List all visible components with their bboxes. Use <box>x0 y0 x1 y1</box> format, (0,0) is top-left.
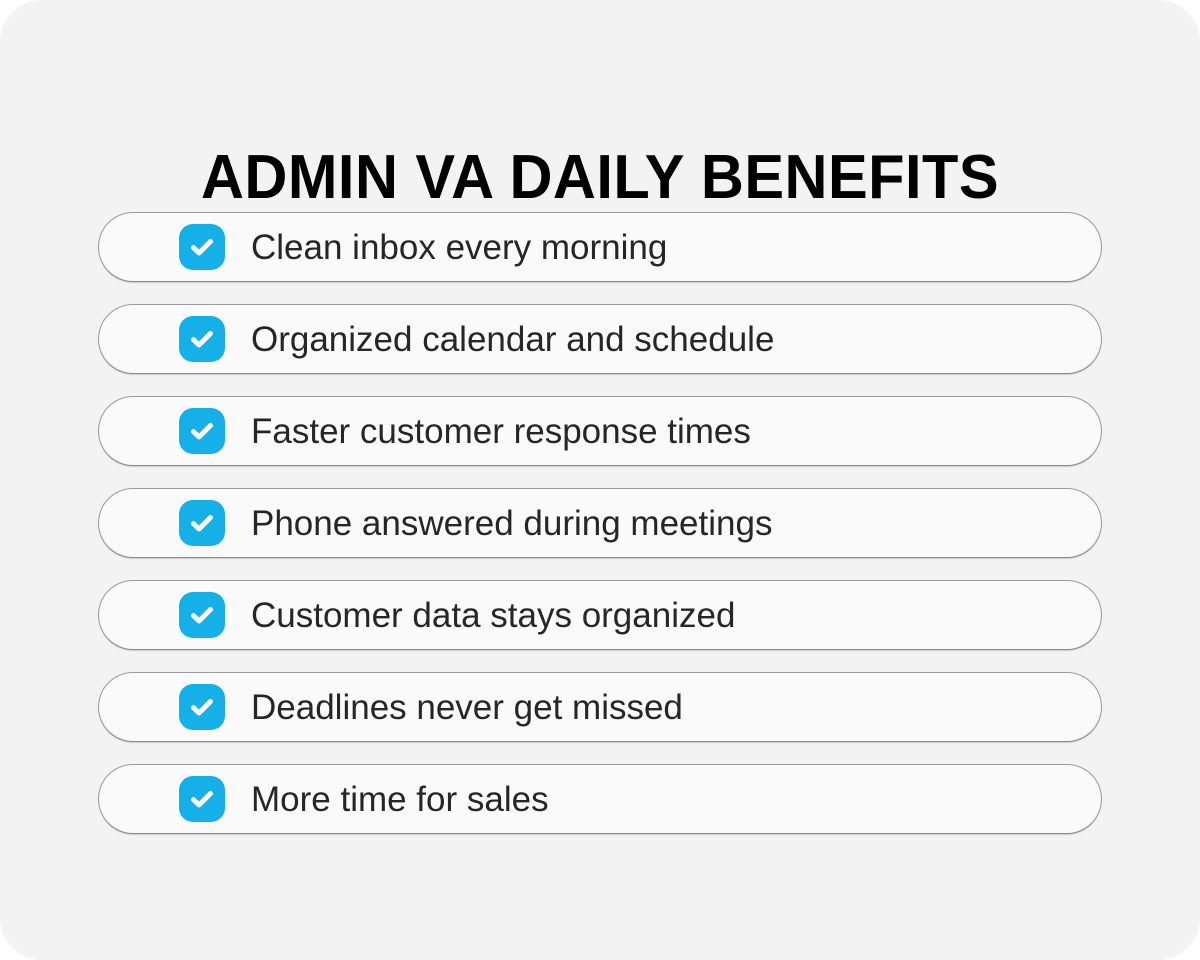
list-item[interactable]: Deadlines never get missed <box>98 672 1102 742</box>
list-item-label: Customer data stays organized <box>251 598 735 633</box>
check-icon[interactable] <box>179 316 225 362</box>
list-item[interactable]: More time for sales <box>98 764 1102 834</box>
list-item-label: Deadlines never get missed <box>251 690 683 725</box>
page-title: ADMIN VA DAILY BENEFITS <box>24 147 1176 209</box>
check-icon[interactable] <box>179 500 225 546</box>
list-item-label: Clean inbox every morning <box>251 230 667 265</box>
check-icon[interactable] <box>179 684 225 730</box>
list-item[interactable]: Phone answered during meetings <box>98 488 1102 558</box>
list-item-label: Faster customer response times <box>251 414 751 449</box>
benefits-card: ADMIN VA DAILY BENEFITS Clean inbox ever… <box>0 0 1200 960</box>
list-item[interactable]: Clean inbox every morning <box>98 212 1102 282</box>
benefits-list: Clean inbox every morning Organized cale… <box>98 212 1102 834</box>
list-item-label: Organized calendar and schedule <box>251 322 774 357</box>
list-item[interactable]: Faster customer response times <box>98 396 1102 466</box>
list-item-label: More time for sales <box>251 782 549 817</box>
check-icon[interactable] <box>179 592 225 638</box>
check-icon[interactable] <box>179 776 225 822</box>
check-icon[interactable] <box>179 408 225 454</box>
list-item[interactable]: Organized calendar and schedule <box>98 304 1102 374</box>
list-item-label: Phone answered during meetings <box>251 506 772 541</box>
list-item[interactable]: Customer data stays organized <box>98 580 1102 650</box>
check-icon[interactable] <box>179 224 225 270</box>
